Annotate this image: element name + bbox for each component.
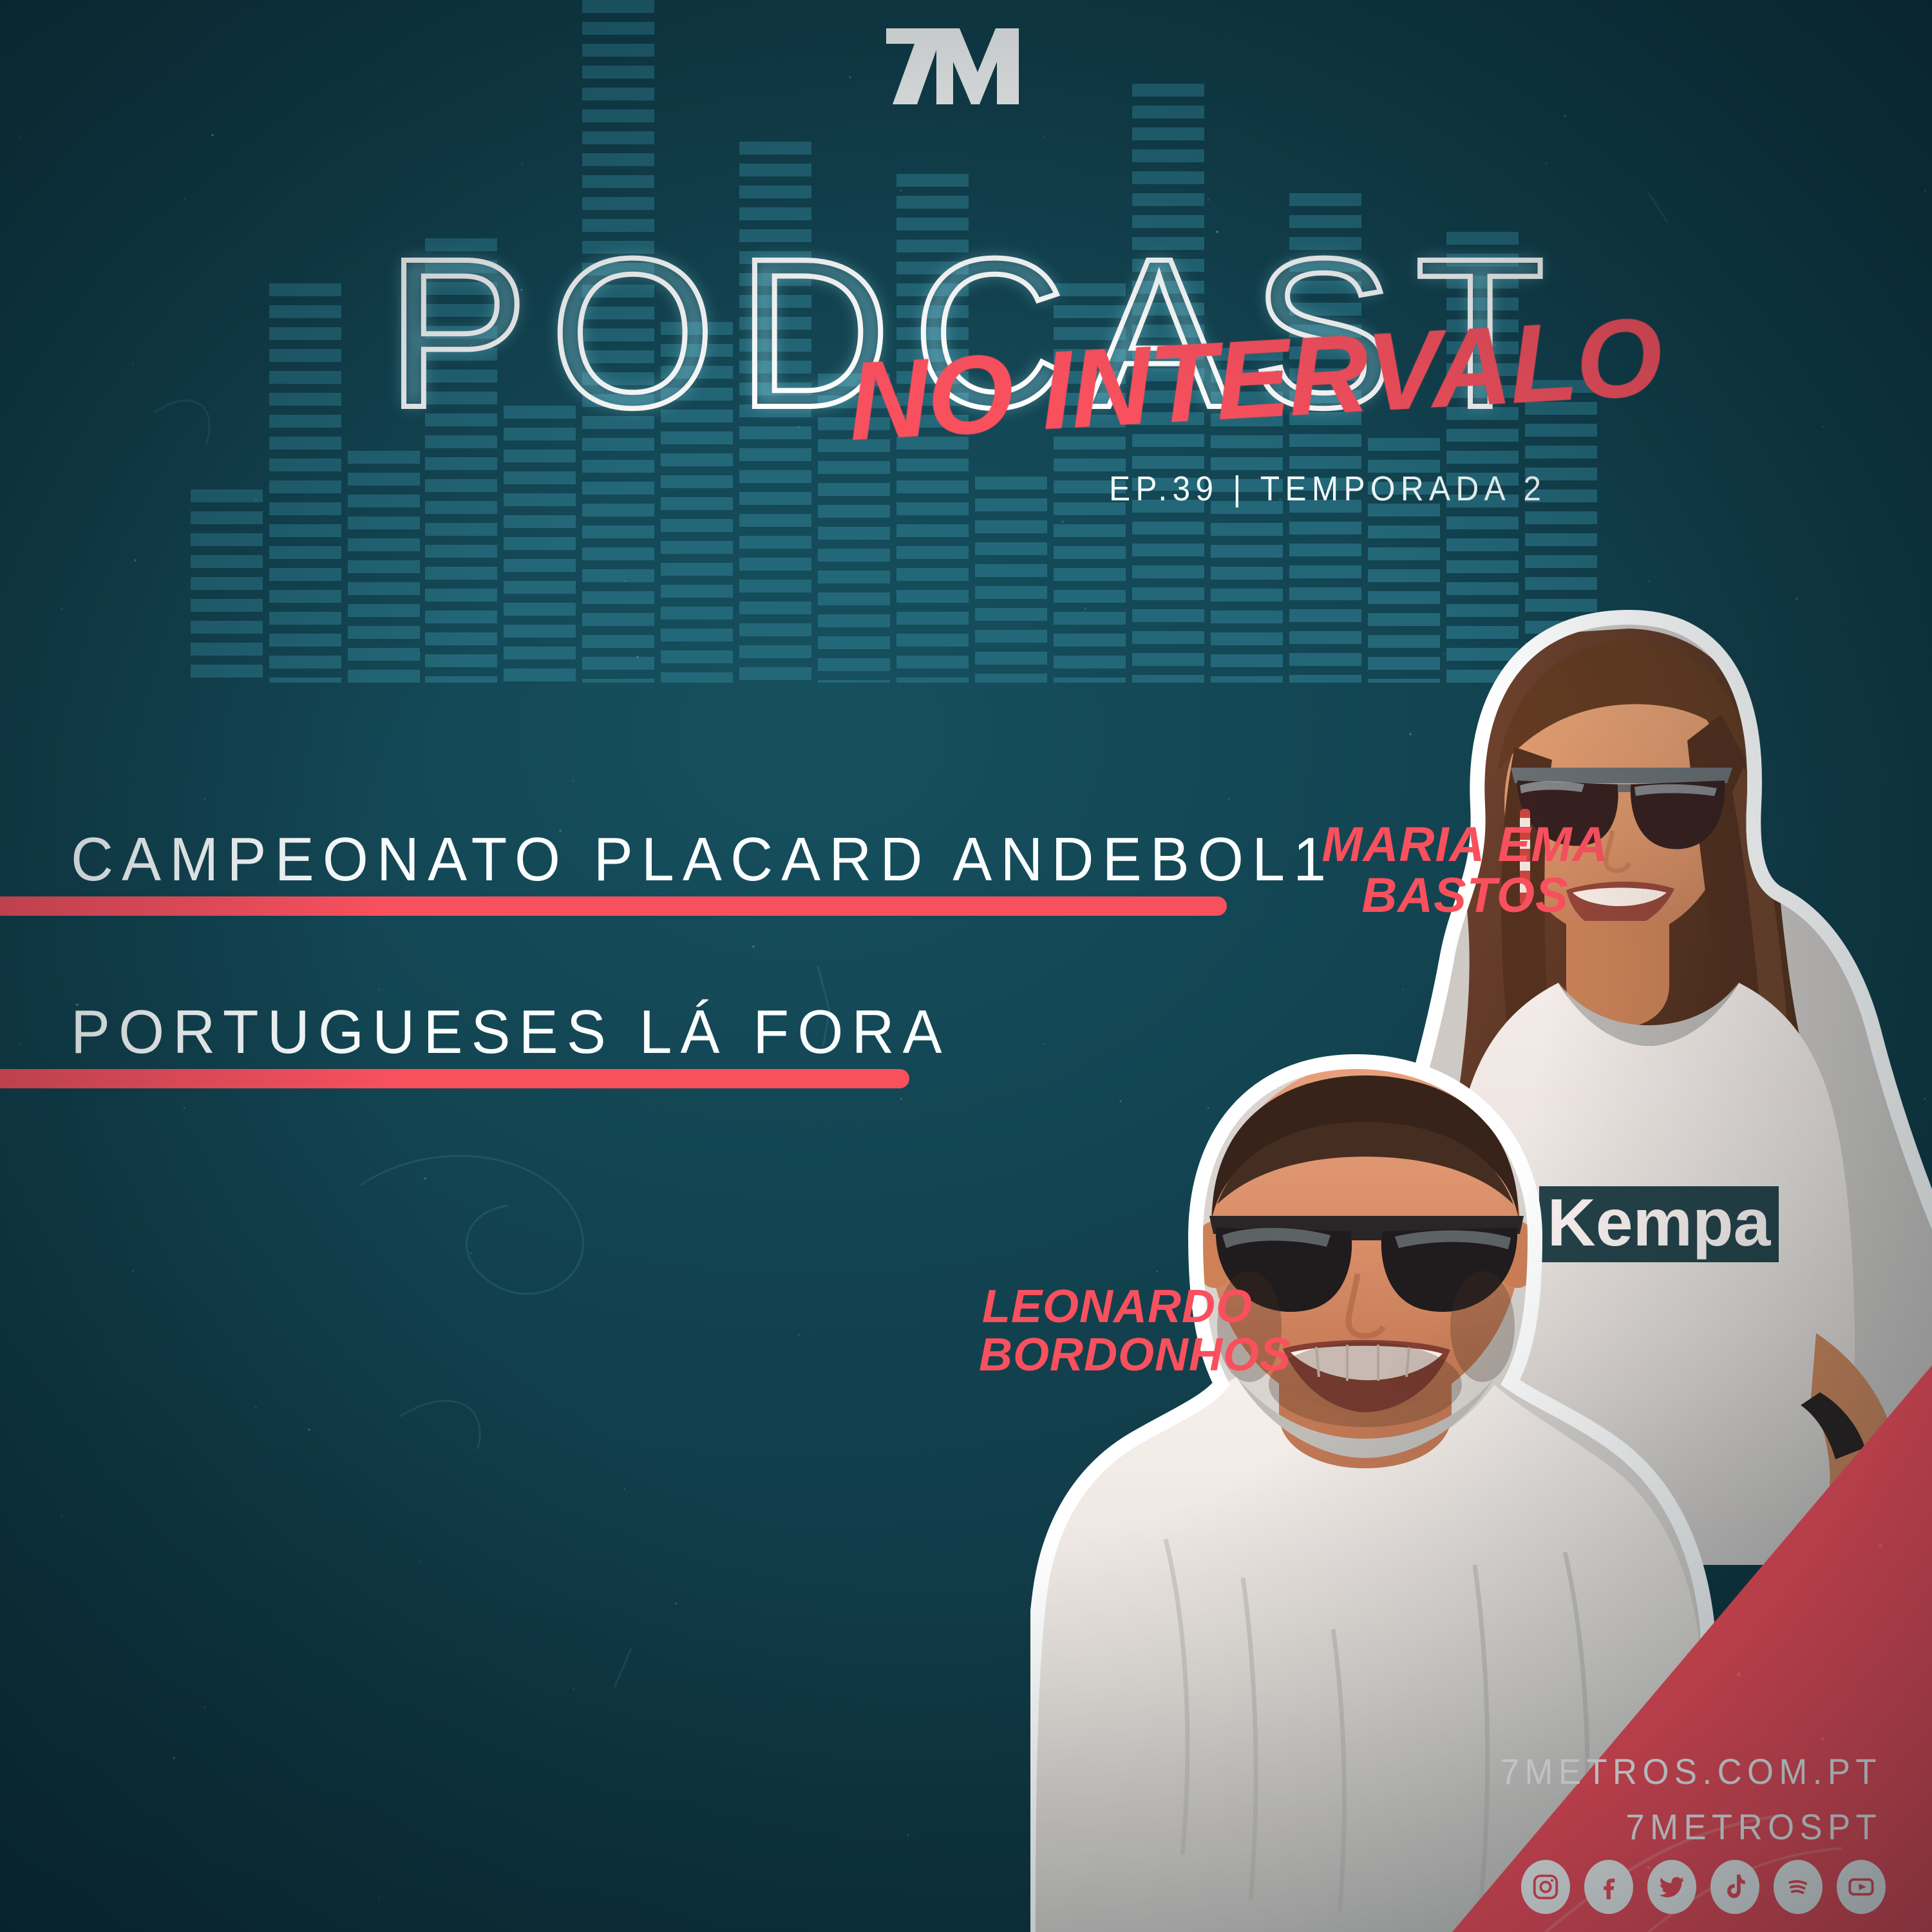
vignette-overlay: [0, 0, 1932, 1932]
podcast-episode-poster: PODCAST NO INTERVALO EP.39 | TEMPORADA 2…: [0, 0, 1932, 1932]
